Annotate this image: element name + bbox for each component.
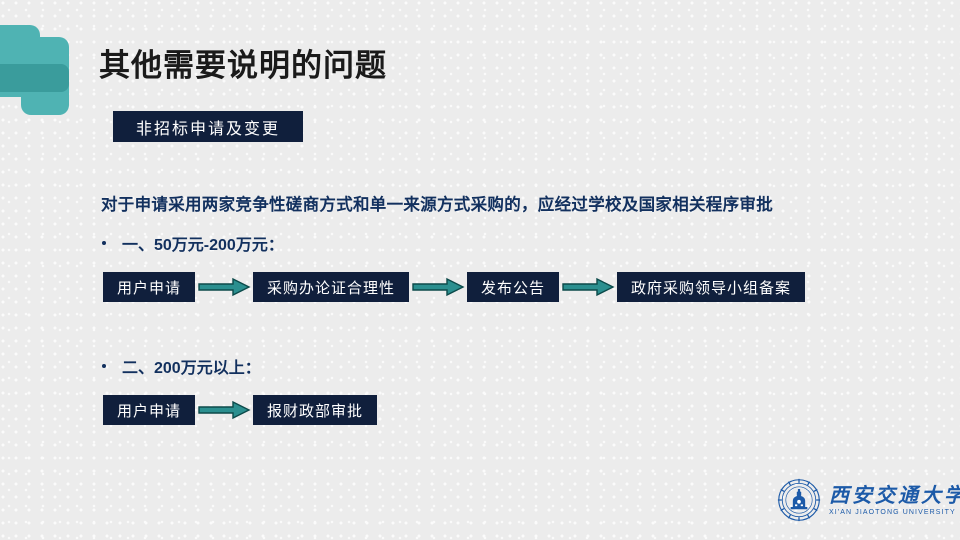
bullet-dot-icon <box>102 364 106 368</box>
university-emblem-icon <box>777 478 821 522</box>
university-name-en: XI'AN JIAOTONG UNIVERSITY <box>829 509 960 516</box>
flow-arrow-icon <box>195 277 253 297</box>
flow-arrow-icon <box>195 400 253 420</box>
decorative-teal-shape <box>0 0 80 130</box>
university-name-cn: 西安交通大学 <box>829 485 960 507</box>
deco-rect-crossbar <box>0 64 69 92</box>
flow-diagram-above-200: 用户申请 报财政部审批 <box>103 395 377 425</box>
lead-paragraph: 对于申请采用两家竞争性磋商方式和单一来源方式采购的，应经过学校及国家相关程序审批 <box>101 191 773 215</box>
flow-step-box[interactable]: 报财政部审批 <box>253 395 377 425</box>
university-logo: 西安交通大学 XI'AN JIAOTONG UNIVERSITY <box>777 476 947 524</box>
flow-step-box[interactable]: 采购办论证合理性 <box>253 272 409 302</box>
bullet-item-2-label: 二、200万元以上： <box>122 354 261 378</box>
bullet-dot-icon <box>102 241 106 245</box>
slide-canvas: 其他需要说明的问题 非招标申请及变更 对于申请采用两家竞争性磋商方式和单一来源方… <box>0 0 960 540</box>
page-title: 其他需要说明的问题 <box>99 40 387 85</box>
flow-step-box[interactable]: 用户申请 <box>103 395 195 425</box>
bullet-item-2: 二、200万元以上： <box>102 354 261 378</box>
flow-step-box[interactable]: 政府采购领导小组备案 <box>617 272 805 302</box>
flow-arrow-icon <box>409 277 467 297</box>
bullet-item-1-label: 一、50万元-200万元： <box>122 231 284 255</box>
section-label-chip: 非招标申请及变更 <box>113 111 303 142</box>
bullet-item-1: 一、50万元-200万元： <box>102 231 284 255</box>
flow-step-box[interactable]: 用户申请 <box>103 272 195 302</box>
flow-step-box[interactable]: 发布公告 <box>467 272 559 302</box>
flow-arrow-icon <box>559 277 617 297</box>
flow-diagram-50-to-200: 用户申请 采购办论证合理性 发布公告 政府采购领导小组备案 <box>103 272 805 302</box>
university-logo-text: 西安交通大学 XI'AN JIAOTONG UNIVERSITY <box>829 485 960 516</box>
